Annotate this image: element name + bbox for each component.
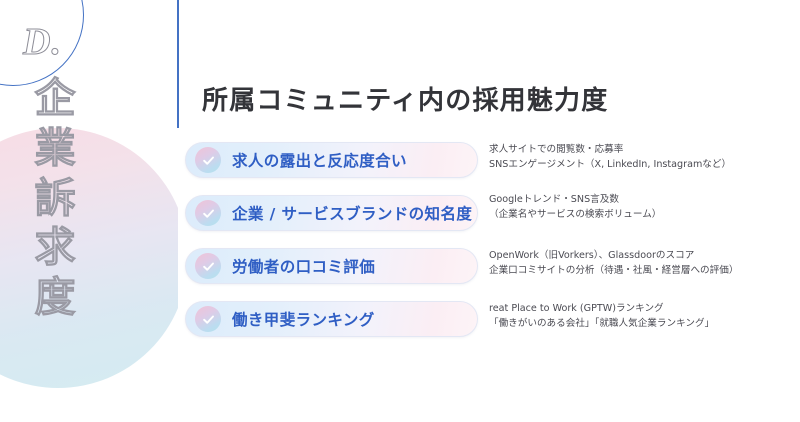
description-line: SNSエンゲージメント（X, LinkedIn, Instagramなど） — [489, 158, 799, 173]
criteria-label: 企業 / サービスブランドの知名度 — [232, 202, 472, 224]
description-line: （企業名やサービスの検索ボリューム） — [489, 208, 799, 223]
section-label-char: 訴 — [35, 178, 76, 220]
section-label-char: 求 — [35, 227, 76, 269]
criteria-description: Googleトレンド・SNS言及数 （企業名やサービスの検索ボリューム） — [489, 193, 799, 223]
page-title: 所属コミュニティ内の採用魅力度 — [202, 80, 608, 117]
check-circle-icon — [195, 147, 221, 173]
criteria-pill[interactable]: 企業 / サービスブランドの知名度 — [185, 195, 478, 231]
criteria-description: 求人サイトでの閲覧数・応募率 SNSエンゲージメント（X, LinkedIn, … — [489, 143, 799, 173]
check-circle-icon — [195, 306, 221, 332]
check-circle-icon — [195, 200, 221, 226]
criteria-label: 働き甲斐ランキング — [232, 308, 375, 330]
section-label-char: 業 — [35, 128, 76, 170]
criteria-pill[interactable]: 働き甲斐ランキング — [185, 301, 478, 337]
section-label-vertical: 企 業 訴 求 度 — [26, 78, 84, 319]
section-marker: D. — [23, 23, 62, 61]
criteria-label: 求人の露出と反応度合い — [232, 149, 407, 171]
criteria-pill[interactable]: 求人の露出と反応度合い — [185, 142, 478, 178]
section-label-char: 度 — [35, 277, 76, 319]
list-item: 企業 / サービスブランドの知名度 Googleトレンド・SNS言及数 （企業名… — [178, 192, 800, 245]
list-item: 労働者の口コミ評価 OpenWork（旧Vorkers）、Glassdoorのス… — [178, 245, 800, 298]
description-line: Googleトレンド・SNS言及数 — [489, 193, 799, 208]
criteria-list: 求人の露出と反応度合い 求人サイトでの閲覧数・応募率 SNSエンゲージメント（X… — [178, 139, 800, 351]
description-line: 「働きがいのある会社」「就職人気企業ランキング」 — [489, 317, 799, 332]
criteria-pill[interactable]: 労働者の口コミ評価 — [185, 248, 478, 284]
list-item: 働き甲斐ランキング reat Place to Work (GPTW)ランキング… — [178, 298, 800, 351]
criteria-description: OpenWork（旧Vorkers）、Glassdoorのスコア 企業口コミサイ… — [489, 249, 799, 279]
description-line: OpenWork（旧Vorkers）、Glassdoorのスコア — [489, 249, 799, 264]
description-line: 求人サイトでの閲覧数・応募率 — [489, 143, 799, 158]
check-circle-icon — [195, 253, 221, 279]
list-item: 求人の露出と反応度合い 求人サイトでの閲覧数・応募率 SNSエンゲージメント（X… — [178, 139, 800, 192]
description-line: reat Place to Work (GPTW)ランキング — [489, 302, 799, 317]
section-label-char: 企 — [35, 78, 76, 120]
description-line: 企業口コミサイトの分析（待遇・社風・経営層への評価） — [489, 264, 799, 279]
slide-canvas: D. 企 業 訴 求 度 所属コミュニティ内の採用魅力度 求人の露出と反応度合い… — [0, 0, 800, 422]
criteria-description: reat Place to Work (GPTW)ランキング 「働きがいのある会… — [489, 302, 799, 332]
decorative-sidebar: D. 企 業 訴 求 度 — [0, 0, 178, 422]
criteria-label: 労働者の口コミ評価 — [232, 255, 375, 277]
main-content: 所属コミュニティ内の採用魅力度 求人の露出と反応度合い 求人サイトでの閲覧数・応… — [178, 0, 800, 422]
